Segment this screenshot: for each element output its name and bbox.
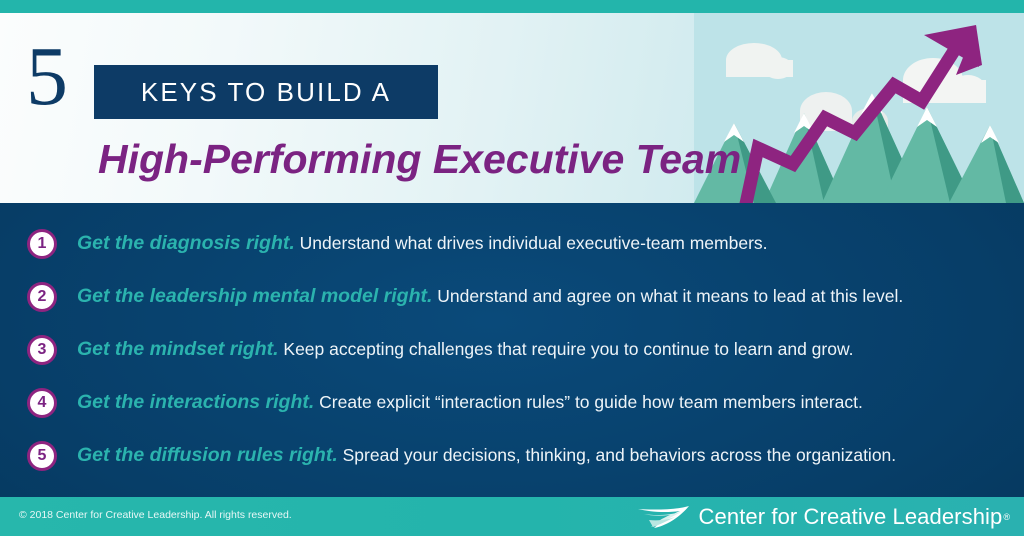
list-item-number: 2 <box>38 289 47 305</box>
list-item-number: 1 <box>38 236 47 252</box>
keys-list: 1 Get the diagnosis right. Understand wh… <box>0 203 1024 482</box>
list-item: 1 Get the diagnosis right. Understand wh… <box>0 217 1024 270</box>
footer-band: © 2018 Center for Creative Leadership. A… <box>0 497 1024 536</box>
list-item-lead: Get the diffusion rules right. <box>77 444 338 466</box>
headline-number: 5 <box>26 35 67 119</box>
top-accent-rule <box>0 0 1024 13</box>
infographic-poster: 5 KEYS TO BUILD A High-Performing Execut… <box>0 0 1024 536</box>
list-item-number: 3 <box>38 342 47 358</box>
list-item: 4 Get the interactions right. Create exp… <box>0 376 1024 429</box>
body-panel: 1 Get the diagnosis right. Understand wh… <box>0 203 1024 497</box>
list-item-text: Get the diagnosis right. Understand what… <box>77 232 768 255</box>
list-item: 2 Get the leadership mental model right.… <box>0 270 1024 323</box>
list-item-detail: Keep accepting challenges that require y… <box>283 339 853 359</box>
headline-banner-label: KEYS TO BUILD A <box>141 77 391 108</box>
list-item-detail: Create explicit “interaction rules” to g… <box>319 392 863 412</box>
list-item-badge: 3 <box>27 335 57 365</box>
header-band: 5 KEYS TO BUILD A High-Performing Execut… <box>0 13 1024 203</box>
list-item-badge: 5 <box>27 441 57 471</box>
header-text-group: 5 KEYS TO BUILD A High-Performing Execut… <box>0 13 760 203</box>
list-item-text: Get the diffusion rules right. Spread yo… <box>77 444 896 467</box>
list-item-lead: Get the leadership mental model right. <box>77 285 432 307</box>
list-item: 3 Get the mindset right. Keep accepting … <box>0 323 1024 376</box>
list-item-detail: Spread your decisions, thinking, and beh… <box>343 445 897 465</box>
registered-trademark-icon: ® <box>1003 512 1010 522</box>
ccl-swoosh-logo-icon <box>636 504 692 530</box>
list-item: 5 Get the diffusion rules right. Spread … <box>0 429 1024 482</box>
list-item-text: Get the interactions right. Create expli… <box>77 391 863 414</box>
list-item-text: Get the mindset right. Keep accepting ch… <box>77 338 854 361</box>
list-item-badge: 4 <box>27 388 57 418</box>
list-item-detail: Understand and agree on what it means to… <box>437 286 903 306</box>
list-item-badge: 2 <box>27 282 57 312</box>
brand-name: Center for Creative Leadership <box>699 504 1003 530</box>
list-item-number: 5 <box>38 448 47 464</box>
headline-banner: KEYS TO BUILD A <box>94 65 438 119</box>
list-item-text: Get the leadership mental model right. U… <box>77 285 903 308</box>
list-item-number: 4 <box>38 395 47 411</box>
list-item-detail: Understand what drives individual execut… <box>300 233 768 253</box>
list-item-lead: Get the mindset right. <box>77 338 279 360</box>
list-item-lead: Get the diagnosis right. <box>77 232 295 254</box>
list-item-badge: 1 <box>27 229 57 259</box>
copyright-text: © 2018 Center for Creative Leadership. A… <box>19 509 292 521</box>
brand-lockup: Center for Creative Leadership ® <box>636 502 1010 531</box>
list-item-lead: Get the interactions right. <box>77 391 314 413</box>
headline-subtitle: High-Performing Executive Team <box>98 131 741 187</box>
